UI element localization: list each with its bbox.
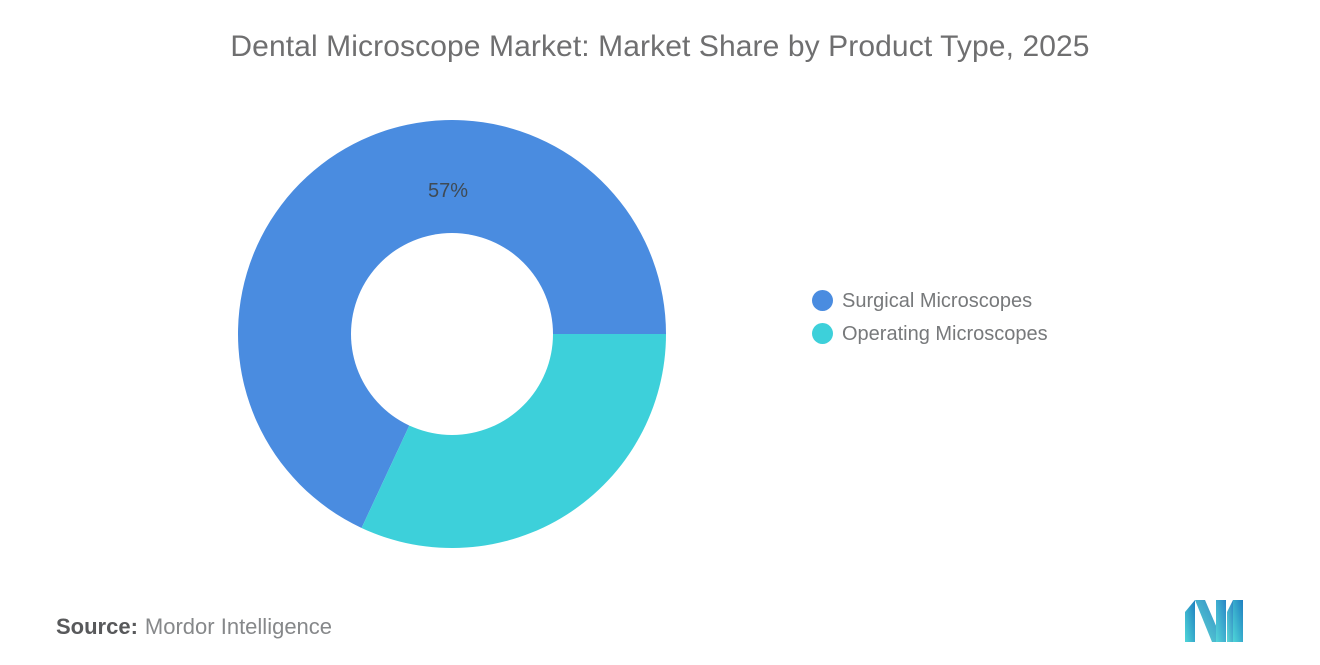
legend-item-surgical-microscopes[interactable]: Surgical Microscopes — [812, 284, 1048, 317]
chart-title: Dental Microscope Market: Market Share b… — [0, 30, 1320, 64]
legend-label-operating-microscopes: Operating Microscopes — [842, 324, 1048, 344]
legend: Surgical Microscopes Operating Microscop… — [812, 284, 1048, 350]
source-value: Mordor Intelligence — [145, 614, 332, 639]
legend-item-operating-microscopes[interactable]: Operating Microscopes — [812, 317, 1048, 350]
mordor-intelligence-logo-icon — [1183, 596, 1253, 642]
donut-svg — [238, 120, 666, 548]
legend-swatch-icon-operating-microscopes — [812, 323, 833, 344]
legend-label-surgical-microscopes: Surgical Microscopes — [842, 291, 1032, 311]
donut-chart: 57% — [238, 120, 666, 548]
donut-hole — [351, 233, 553, 435]
source-attribution: Source:Mordor Intelligence — [56, 612, 332, 642]
legend-swatch-icon-surgical-microscopes — [812, 290, 833, 311]
source-label: Source: — [56, 614, 138, 639]
